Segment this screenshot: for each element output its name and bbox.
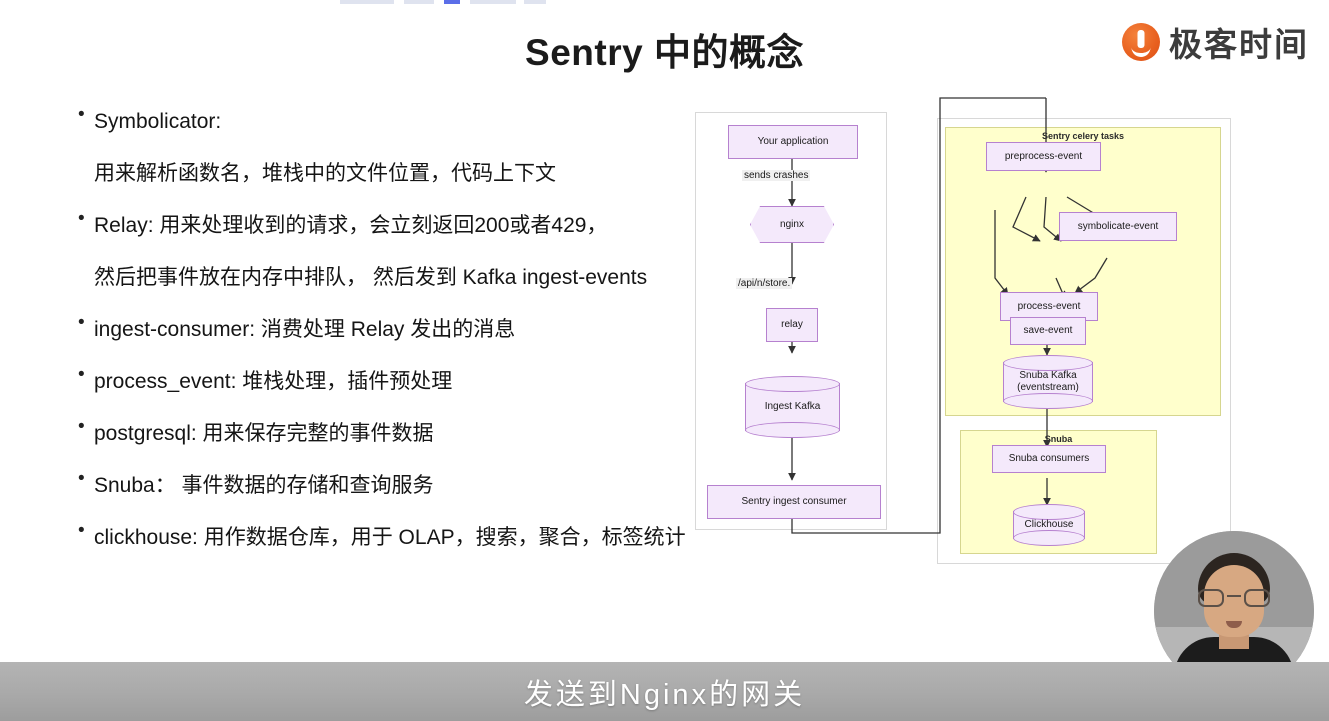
glasses-bridge-icon bbox=[1227, 595, 1241, 597]
bullet-marker-icon: • bbox=[78, 410, 94, 442]
node-clickhouse[interactable]: Clickhouse bbox=[1013, 504, 1085, 546]
node-label: Clickhouse bbox=[1013, 504, 1085, 546]
edge-label-sends-crashes: sends crashes bbox=[742, 170, 810, 181]
node-label: symbolicate-event bbox=[1078, 221, 1159, 233]
bullet-subtext: 然后把事件放在内存中排队， 然后发到 Kafka ingest-events bbox=[78, 254, 758, 302]
toolbar-tick bbox=[524, 0, 546, 4]
node-your-application[interactable]: Your application bbox=[728, 125, 858, 159]
glasses-left-lens-icon bbox=[1198, 589, 1224, 607]
node-label-line2: (eventstream) bbox=[1017, 382, 1079, 394]
bullet-text: Relay: 用来处理收到的请求，会立刻返回200或者429， bbox=[94, 202, 607, 250]
node-save-event[interactable]: save-event bbox=[1010, 317, 1086, 345]
toolbar-tick bbox=[470, 0, 516, 4]
list-item: • clickhouse: 用作数据仓库，用于 OLAP，搜索，聚合，标签统计 bbox=[78, 514, 758, 562]
edge-label-api-store: /api/n/store. bbox=[736, 278, 792, 289]
node-label: relay bbox=[781, 319, 803, 331]
node-label: Sentry ingest consumer bbox=[741, 496, 846, 508]
bullet-marker-icon: • bbox=[78, 202, 94, 234]
bullet-text: process_event: 堆栈处理，插件预处理 bbox=[94, 358, 452, 406]
architecture-diagram: Sentry celery tasks Snuba bbox=[695, 110, 1231, 562]
list-item: • Snuba： 事件数据的存储和查询服务 bbox=[78, 462, 758, 510]
list-item: • Relay: 用来处理收到的请求，会立刻返回200或者429， bbox=[78, 202, 758, 250]
cropped-toolbar-sliver bbox=[0, 0, 1329, 4]
node-snuba-kafka[interactable]: Snuba Kafka (eventstream) bbox=[1003, 355, 1093, 409]
bullet-text: Symbolicator: bbox=[94, 98, 221, 146]
node-preprocess-event[interactable]: preprocess-event bbox=[986, 142, 1101, 171]
node-label-line1: Snuba Kafka bbox=[1017, 370, 1079, 382]
brand-logo: 极客时间 bbox=[1122, 18, 1309, 66]
node-symbolicate-event[interactable]: symbolicate-event bbox=[1059, 212, 1177, 241]
bullet-text: Snuba： 事件数据的存储和查询服务 bbox=[94, 462, 434, 510]
glasses-right-lens-icon bbox=[1244, 589, 1270, 607]
node-sentry-ingest-consumer[interactable]: Sentry ingest consumer bbox=[707, 485, 881, 519]
list-item: • process_event: 堆栈处理，插件预处理 bbox=[78, 358, 758, 406]
bullet-list: • Symbolicator: 用来解析函数名，堆栈中的文件位置，代码上下文 •… bbox=[78, 98, 758, 566]
slide-canvas: Sentry 中的概念 极客时间 • Symbolicator: 用来解析函数名… bbox=[0, 0, 1329, 721]
list-item: • postgresql: 用来保存完整的事件数据 bbox=[78, 410, 758, 458]
bullet-marker-icon: • bbox=[78, 514, 94, 546]
bullet-subtext: 用来解析函数名，堆栈中的文件位置，代码上下文 bbox=[78, 150, 758, 198]
bullet-marker-icon: • bbox=[78, 98, 94, 130]
bullet-text: clickhouse: 用作数据仓库，用于 OLAP，搜索，聚合，标签统计 bbox=[94, 514, 686, 562]
bullet-marker-icon: • bbox=[78, 462, 94, 494]
node-label: Snuba consumers bbox=[1009, 453, 1090, 465]
bullet-marker-icon: • bbox=[78, 358, 94, 390]
node-nginx[interactable]: nginx bbox=[750, 206, 834, 243]
list-item: • ingest-consumer: 消费处理 Relay 发出的消息 bbox=[78, 306, 758, 354]
node-relay[interactable]: relay bbox=[766, 308, 818, 342]
toolbar-tick bbox=[340, 0, 394, 4]
toolbar-tick-active bbox=[444, 0, 460, 4]
brand-name: 极客时间 bbox=[1169, 18, 1309, 66]
node-label: preprocess-event bbox=[1005, 151, 1082, 163]
node-label: nginx bbox=[780, 219, 804, 231]
node-ingest-kafka[interactable]: Ingest Kafka bbox=[745, 376, 840, 438]
node-label: Snuba Kafka (eventstream) bbox=[1003, 355, 1093, 409]
node-label: Ingest Kafka bbox=[745, 376, 840, 438]
bullet-text: ingest-consumer: 消费处理 Relay 发出的消息 bbox=[94, 306, 515, 354]
list-item: • Symbolicator: bbox=[78, 98, 758, 146]
bullet-text: postgresql: 用来保存完整的事件数据 bbox=[94, 410, 434, 458]
bullet-marker-icon: • bbox=[78, 306, 94, 338]
node-snuba-consumers[interactable]: Snuba consumers bbox=[992, 445, 1106, 473]
node-label: Your application bbox=[758, 136, 829, 148]
caption-bar: 发送到Nginx的网关 bbox=[0, 662, 1329, 721]
caption-text: 发送到Nginx的网关 bbox=[524, 671, 805, 713]
toolbar-tick bbox=[404, 0, 434, 4]
node-label: save-event bbox=[1024, 325, 1073, 337]
geekbang-logo-icon bbox=[1122, 23, 1160, 61]
